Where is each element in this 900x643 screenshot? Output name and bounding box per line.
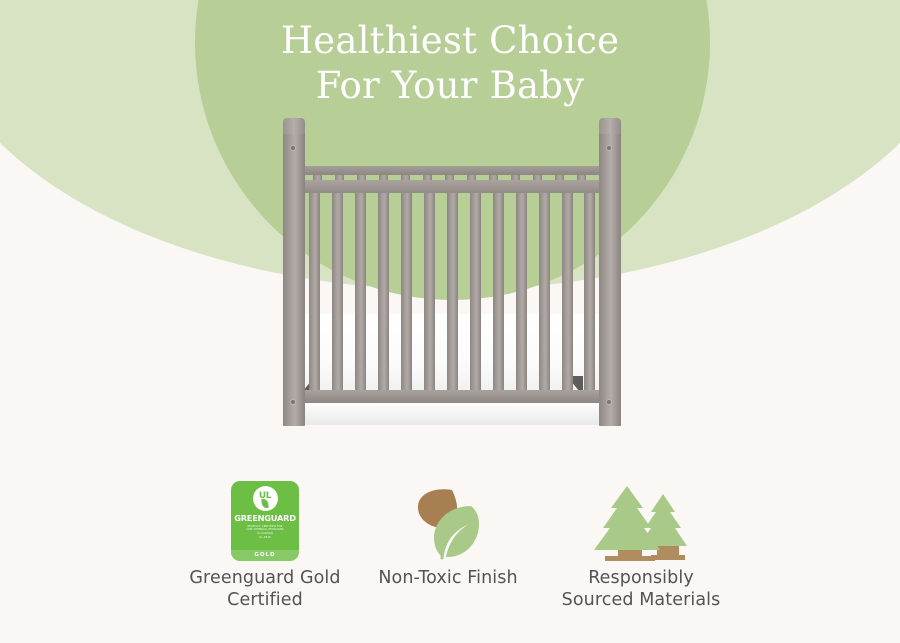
greenguard-wordmark: GREENGUARD xyxy=(234,513,296,523)
greenguard-fine-print: PRODUCT CERTIFIED FOR LOW CHEMICAL EMISS… xyxy=(237,525,293,541)
headline-line-1: Healthiest Choice xyxy=(281,19,619,62)
crib-post-cap-right xyxy=(599,118,621,134)
crib-post-right xyxy=(599,120,621,426)
pine-trees-icon xyxy=(591,480,691,562)
caption-line-2: Certified xyxy=(140,589,390,611)
greenguard-tier-label: GOLD xyxy=(231,550,299,561)
caption-line-1: Responsibly xyxy=(588,568,694,588)
feature-caption-sourced-materials: Responsibly Sourced Materials xyxy=(516,567,766,612)
crib-product-image xyxy=(277,118,627,428)
page-title: Healthiest Choice For Your Baby xyxy=(0,18,900,108)
feature-sourced-materials: Responsibly Sourced Materials xyxy=(516,478,766,612)
crib-post-cap-left xyxy=(283,118,305,134)
crib-screw-top-right xyxy=(607,146,611,150)
headline-line-2: For Your Baby xyxy=(0,63,900,108)
crib-front-rail xyxy=(287,180,617,193)
marketing-banner: Healthiest Choice For Your Baby xyxy=(0,0,900,643)
caption-line-1: Greenguard Gold xyxy=(189,568,340,588)
ul-mark-icon: UL xyxy=(253,486,278,511)
fine-print-line-4: UL 2818 xyxy=(237,536,293,540)
crib-front-slats xyxy=(277,118,627,428)
crib-screw-top-left xyxy=(291,146,295,150)
crib-screw-bottom-left xyxy=(291,400,295,404)
crib-post-left xyxy=(283,120,305,426)
crib-screw-bottom-right xyxy=(607,400,611,404)
caption-line-1: Non-Toxic Finish xyxy=(378,568,517,588)
two-leaves-icon xyxy=(405,480,491,562)
caption-line-2: Sourced Materials xyxy=(516,589,766,611)
crib-under-panel xyxy=(301,403,603,425)
crib-bottom-rail xyxy=(287,390,617,403)
